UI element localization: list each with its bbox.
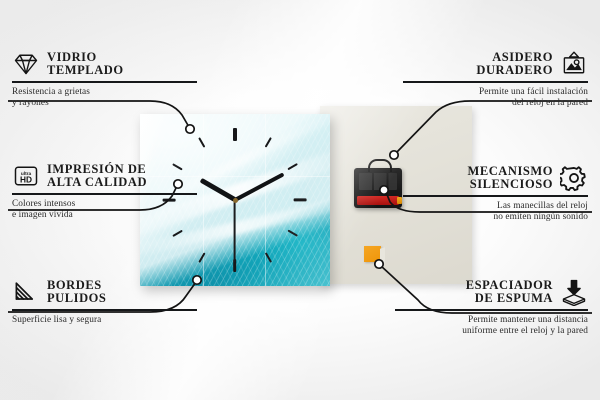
- feature-body: Permite mantener una distanciauniforme e…: [395, 315, 588, 338]
- polished-edge-icon: [12, 278, 40, 306]
- feature-mecanismo-silencioso: MECANISMOSILENCIOSO Las manecillas del r…: [403, 164, 588, 223]
- foam-spacer: [364, 246, 381, 262]
- feature-rule: [403, 81, 588, 83]
- feature-header: BORDESPULIDOS: [12, 278, 197, 306]
- feature-title: IMPRESIÓN DEALTA CALIDAD: [47, 163, 147, 190]
- gear-icon: [560, 164, 588, 192]
- feature-rule: [395, 309, 588, 311]
- feature-vidrio-templado: VIDRIOTEMPLADO Resistencia a grietasy ra…: [12, 50, 197, 109]
- feature-impresion-alta-calidad: ultra HD IMPRESIÓN DEALTA CALIDAD Colore…: [12, 162, 197, 221]
- feature-header: ultra HD IMPRESIÓN DEALTA CALIDAD: [12, 162, 197, 190]
- feature-header: VIDRIOTEMPLADO: [12, 50, 197, 78]
- battery: [357, 196, 399, 205]
- feature-title: ESPACIADORDE ESPUMA: [466, 279, 553, 306]
- feature-rule: [12, 81, 197, 83]
- feature-title: ASIDERODURADERO: [476, 51, 553, 78]
- feature-asidero-duradero: ASIDERODURADERO Permite una fácil instal…: [403, 50, 588, 109]
- feature-rule: [12, 193, 197, 195]
- picture-hanger-icon: [560, 50, 588, 78]
- infographic-canvas: VIDRIOTEMPLADO Resistencia a grietasy ra…: [0, 0, 600, 400]
- feature-body: Permite una fácil instalacióndel reloj e…: [403, 87, 588, 110]
- feature-title: VIDRIOTEMPLADO: [47, 51, 124, 78]
- feature-title: MECANISMOSILENCIOSO: [467, 165, 553, 192]
- feature-rule: [12, 309, 197, 311]
- feature-header: ESPACIADORDE ESPUMA: [395, 278, 588, 306]
- feature-title: BORDESPULIDOS: [47, 279, 106, 306]
- svg-text:HD: HD: [20, 175, 32, 185]
- feature-bordes-pulidos: BORDESPULIDOS Superficie lisa y segura: [12, 278, 197, 326]
- diamond-icon: [12, 50, 40, 78]
- feature-body: Resistencia a grietasy rayones: [12, 87, 197, 110]
- mechanism-slots: [359, 173, 397, 190]
- clock-mechanism: [354, 168, 402, 208]
- feature-header: MECANISMOSILENCIOSO: [403, 164, 588, 192]
- feature-header: ASIDERODURADERO: [403, 50, 588, 78]
- feature-espaciador-de-espuma: ESPACIADORDE ESPUMA Permite mantener una…: [395, 278, 588, 337]
- foam-spacer-icon: [560, 278, 588, 306]
- feature-rule: [403, 195, 588, 197]
- feature-body: Colores intensose imagen vívida: [12, 199, 197, 222]
- feature-body: Superficie lisa y segura: [12, 315, 197, 326]
- hanger-loop-icon: [368, 159, 392, 172]
- ultra-hd-icon: ultra HD: [12, 162, 40, 190]
- feature-body: Las manecillas del relojno emiten ningún…: [403, 201, 588, 224]
